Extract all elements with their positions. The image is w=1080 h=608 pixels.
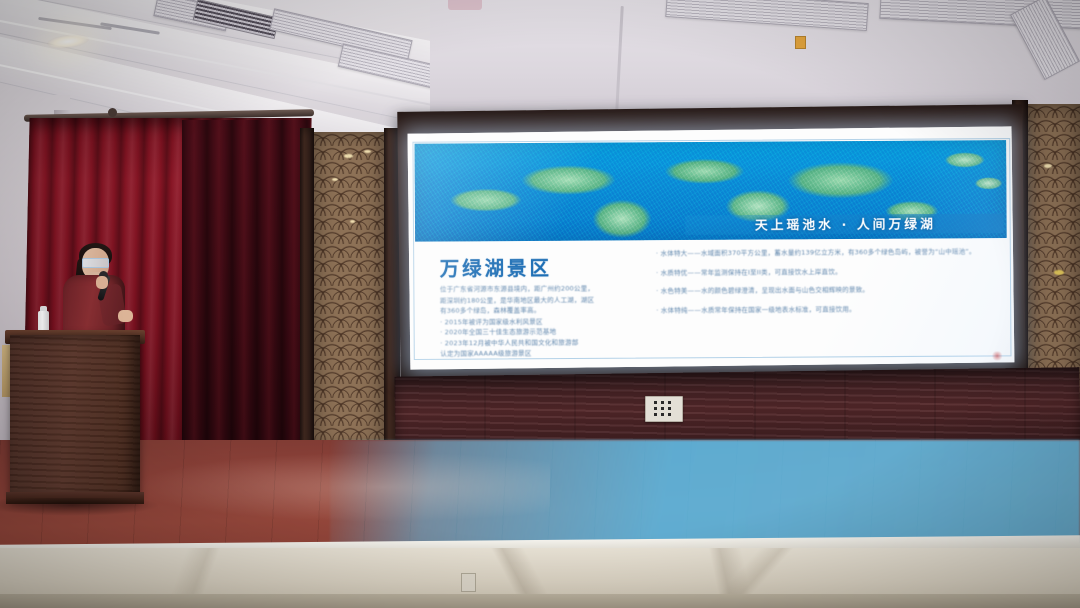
podium-shadow — [0, 498, 160, 516]
speaker-podium — [10, 335, 140, 500]
decorative-lattice-panel — [314, 132, 384, 454]
lattice-frame-left — [300, 128, 314, 458]
slide-right-column: · 水体特大——水域面积370平方公里，蓄水量约139亿立方米，有360多个绿色… — [656, 246, 993, 324]
stage-curtain-shadowed — [182, 120, 310, 462]
wall-control-panel[interactable] — [645, 396, 683, 422]
curtain-rod-bracket — [108, 108, 117, 117]
lattice-highlight — [1054, 270, 1064, 275]
lattice-highlight — [332, 178, 338, 181]
slide-left-column: 位于广东省河源市东源县境内，距广州约200公里， 距深圳约180公里，是华南地区… — [440, 283, 634, 359]
presentation-slide: 天上瑶池水 · 人间万绿湖 万绿湖景区 位于广东省河源市东源县境内，距广州约20… — [408, 126, 1015, 369]
floor-reflection — [130, 452, 550, 522]
eyeglasses-icon — [82, 258, 109, 268]
wall-sign — [795, 36, 806, 49]
slide-bullet: · 水色特美——水的颜色碧绿澄清，呈现出水面与山色交相辉映的景致。 — [656, 284, 993, 297]
wall-marking — [448, 0, 482, 10]
lattice-highlight — [1044, 164, 1052, 168]
speaker-hand-holding-mic — [96, 276, 108, 289]
screen-surface[interactable]: 天上瑶池水 · 人间万绿湖 万绿湖景区 位于广东省河源市东源县境内，距广州约20… — [408, 126, 1015, 369]
slide-title: 万绿湖景区 — [440, 253, 552, 281]
stage-base-trim — [0, 594, 1080, 608]
lattice-highlight — [350, 220, 355, 223]
speaker-hand — [118, 310, 133, 322]
lattice-highlight — [344, 154, 353, 158]
slide-banner-text: 天上瑶池水 · 人间万绿湖 — [692, 214, 998, 235]
slide-watermark — [991, 351, 1003, 360]
floor-power-outlet[interactable] — [461, 573, 476, 592]
lattice-highlight — [364, 150, 371, 153]
slide-bullet: · 水质特优——常年监测保持在I至II类，可直接饮水上岸直饮。 — [656, 265, 993, 278]
lake-aerial-photo: 天上瑶池水 · 人间万绿湖 — [415, 140, 1007, 242]
led-display-screen[interactable]: 天上瑶池水 · 人间万绿湖 万绿湖景区 位于广东省河源市东源县境内，距广州约20… — [397, 104, 1025, 400]
slide-text-line: 认定为国家AAAAA级旅游景区 — [440, 347, 634, 359]
slide-bullet: · 水体特纯——水质常年保持在国家一级地表水标准，可直接饮用。 — [656, 303, 993, 316]
presentation-hall-photo: 天上瑶池水 · 人间万绿湖 万绿湖景区 位于广东省河源市东源县境内，距广州约20… — [0, 0, 1080, 608]
slide-bullet: · 水体特大——水域面积370平方公里，蓄水量约139亿立方米，有360多个绿色… — [656, 246, 993, 259]
